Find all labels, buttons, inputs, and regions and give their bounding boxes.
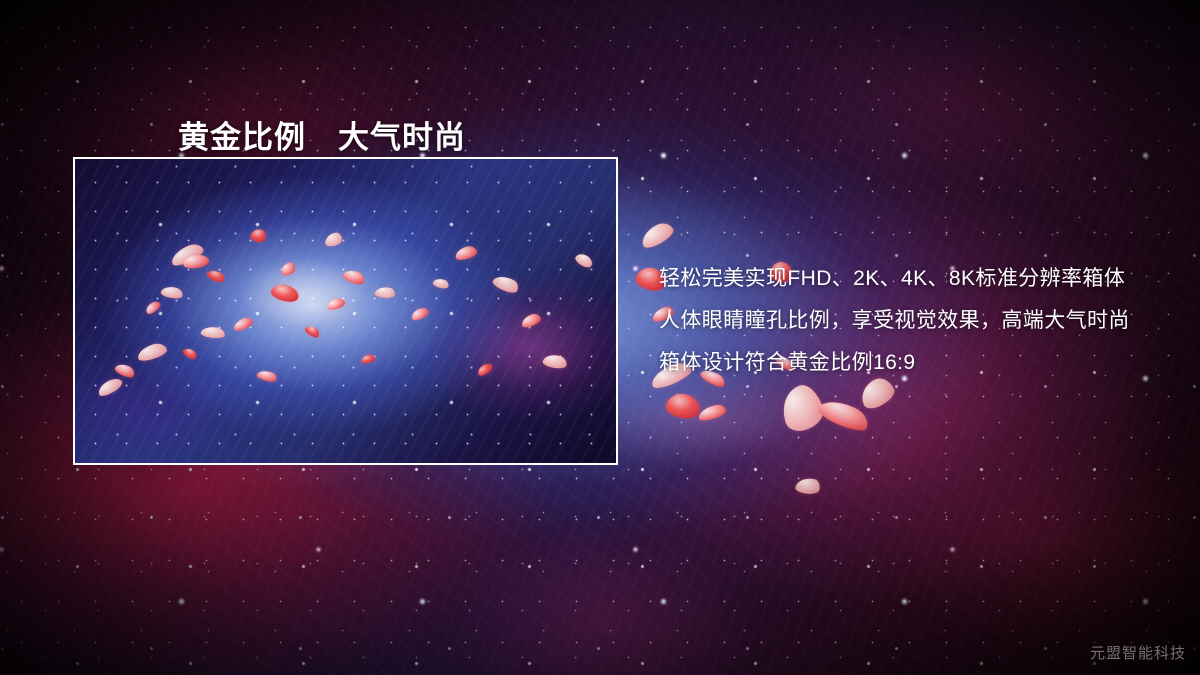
petal [664,391,702,421]
body-line-2: 人体眼睛瞳孔比例，享受视觉效果，高端大气时尚 [659,300,1159,342]
petal [638,219,676,251]
petal [697,403,727,422]
framed-image [73,157,618,465]
body-copy-block: 轻松完美实现FHD、2K、4K、8K标准分辨率箱体 人体眼睛瞳孔比例，享受视觉效… [659,258,1159,384]
body-line-1: 轻松完美实现FHD、2K、4K、8K标准分辨率箱体 [659,258,1159,300]
watermark-text: 元盟智能科技 [1090,646,1186,661]
body-line-3: 箱体设计符合黄金比例16:9 [659,342,1159,384]
petal [795,476,822,497]
framed-image-stars [75,159,616,463]
page-title: 黄金比例 大气时尚 [178,122,466,153]
petal [816,394,872,435]
petal [776,381,828,435]
slide-canvas: 黄金比例 大气时尚 轻松完美实现FHD、2K、4K、8K标准分辨率箱体 人体眼睛… [0,0,1200,675]
